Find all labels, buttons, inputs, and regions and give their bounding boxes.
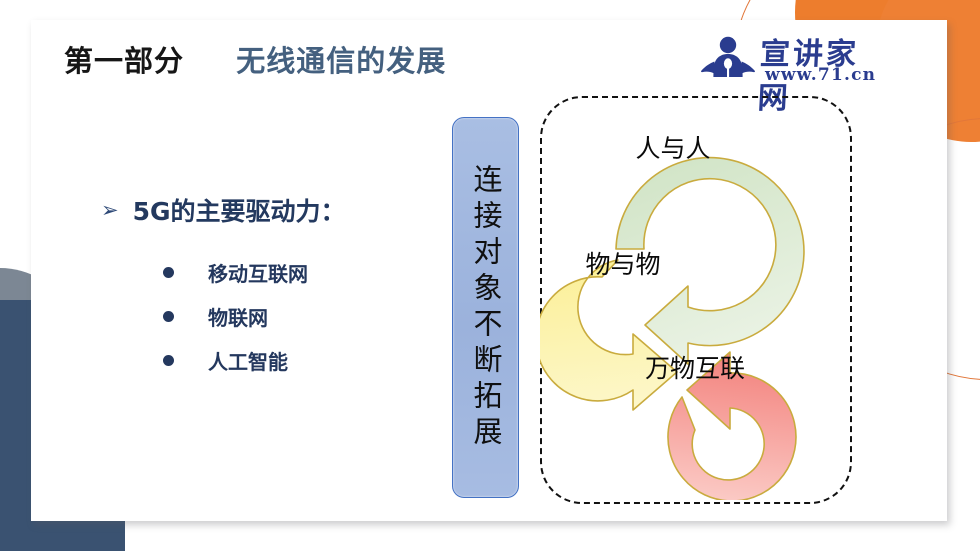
vertical-callout-box: 连接对象不断拓展	[452, 117, 519, 498]
speaker-silhouette-icon	[697, 35, 759, 85]
list-item-label: 物联网	[208, 302, 268, 331]
vertical-callout-text: 连接对象不断拓展	[471, 164, 500, 452]
list-item: 移动互联网	[163, 250, 308, 294]
slide-canvas: 第一部分 无线通信的发展 宣讲家网 www.71.cn	[0, 0, 980, 551]
bullet-level1-label: 5G的主要驱动力：	[133, 192, 346, 228]
ring-people-label: 人与人	[618, 136, 728, 163]
list-item-label: 移动互联网	[208, 258, 308, 287]
cycle-diagram: 人与人 物与物 万物互联	[540, 96, 848, 500]
list-item: 人工智能	[163, 338, 308, 382]
dot-bullet-icon	[163, 355, 174, 366]
ring-everything-label: 万物互联	[640, 356, 750, 383]
title-part-label: 第一部分	[64, 44, 184, 78]
bullet-level1: ➢ 5G的主要驱动力：	[101, 192, 346, 228]
brand-logo[interactable]: 宣讲家网 www.71.cn	[697, 33, 882, 89]
ring-things-label: 物与物	[568, 252, 678, 279]
dot-bullet-icon	[163, 311, 174, 322]
dot-bullet-icon	[163, 267, 174, 278]
logo-url: www.71.cn	[765, 65, 876, 85]
page-title: 第一部分 无线通信的发展	[64, 38, 446, 80]
title-topic: 无线通信的发展	[236, 44, 446, 78]
arrow-bullet-icon: ➢	[101, 200, 119, 221]
list-item: 物联网	[163, 294, 308, 338]
list-item-label: 人工智能	[208, 346, 288, 375]
bullet-level2-list: 移动互联网 物联网 人工智能	[163, 250, 308, 382]
